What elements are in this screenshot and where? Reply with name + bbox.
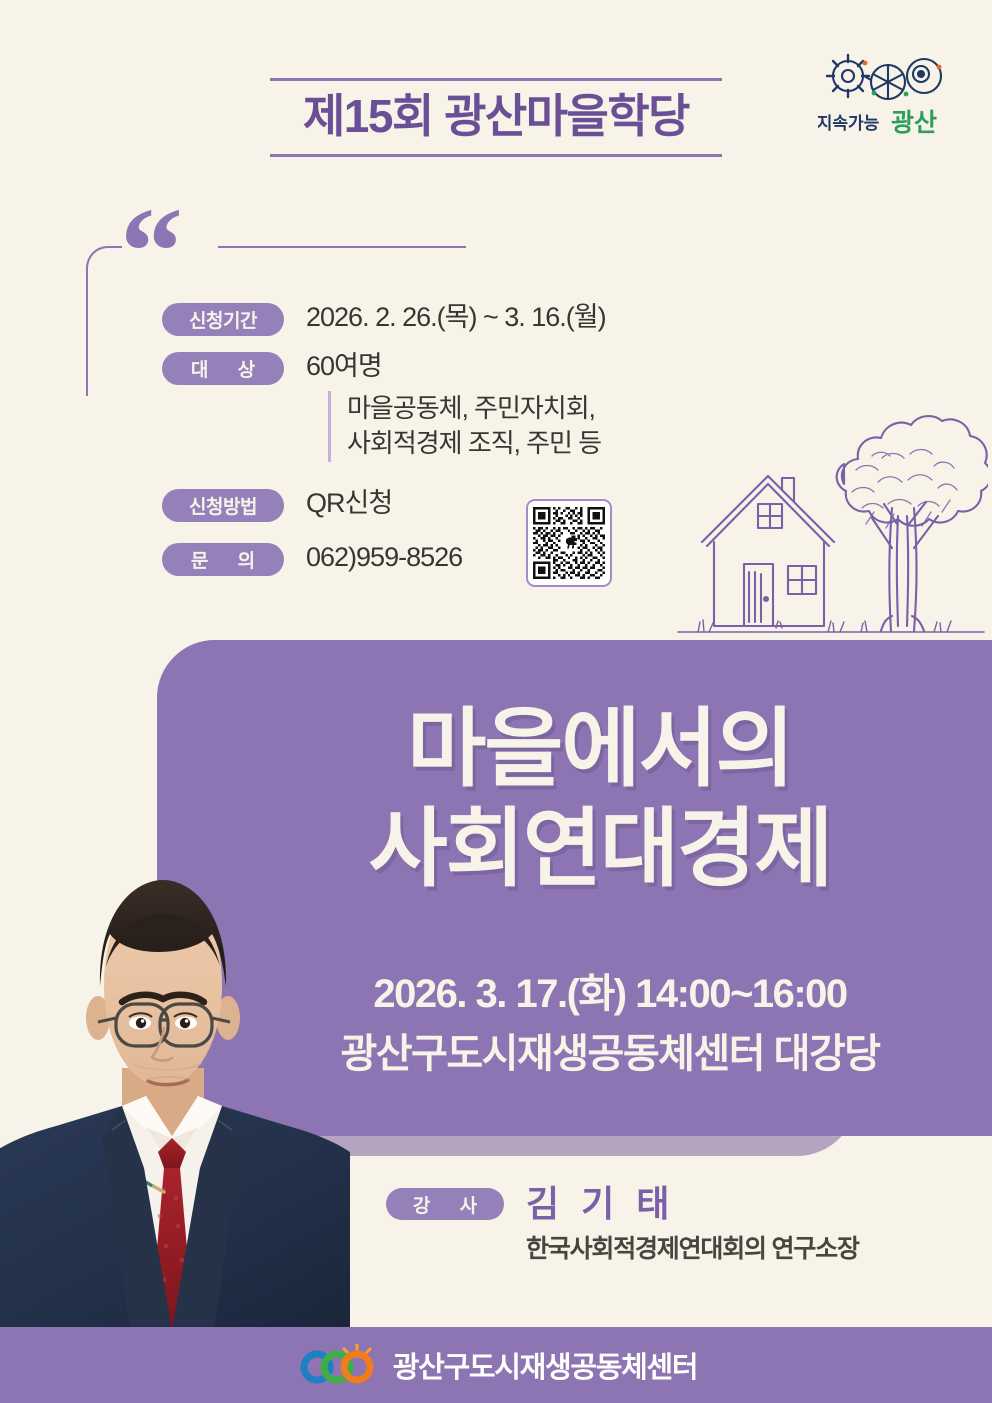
- badge-target: 대 상: [162, 352, 284, 385]
- value-application-method: QR신청: [306, 486, 392, 521]
- badge-application-period: 신청기간: [162, 303, 284, 336]
- page-title-block: 제15회 광산마을학당: [270, 78, 722, 157]
- info-row-contact: 문 의 062)959-8526: [162, 540, 722, 576]
- page-title: 제15회 광산마을학당: [270, 81, 722, 154]
- value-target: 60여명: [306, 349, 382, 384]
- speaker-name: 김 기 태: [526, 1184, 859, 1224]
- badge-application-method: 신청방법: [162, 489, 284, 522]
- badge-contact: 문 의: [162, 543, 284, 576]
- speaker-affiliation: 한국사회적경제연대회의 연구소장: [526, 1229, 859, 1265]
- bracket-decoration: [86, 246, 122, 396]
- value-contact: 062)959-8526: [306, 540, 462, 575]
- speaker-block: 강 사 김 기 태 한국사회적경제연대회의 연구소장: [386, 1184, 859, 1265]
- headline-line-2: 사회연대경제: [280, 800, 920, 900]
- info-row-period: 신청기간 2026. 2. 26.(목) ~ 3. 16.(월): [162, 300, 722, 336]
- poster-root: 지속가능 광산 제15회 광산마을학당 “ 신청기간 2026. 2. 26.(…: [0, 0, 992, 1403]
- info-row-method: 신청방법 QR신청: [162, 486, 722, 522]
- info-row-target: 대 상 60여명: [162, 349, 722, 385]
- main-headline: 마을에서의 사회연대경제: [280, 700, 920, 900]
- logo-tagline-text: 지속가능: [818, 114, 880, 133]
- qr-center-dino-icon: [563, 534, 578, 551]
- qr-code[interactable]: [526, 499, 612, 587]
- quote-mark-icon: “: [120, 206, 185, 299]
- footer-bar: 광산구도시재생공동체센터: [0, 1327, 992, 1403]
- target-sub-line-2: 사회적경제 조직, 주민 등: [347, 426, 722, 461]
- headline-line-1: 마을에서의: [280, 700, 920, 800]
- speaker-details: 김 기 태 한국사회적경제연대회의 연구소장: [526, 1184, 859, 1265]
- logo-name-text: 광산: [891, 109, 937, 137]
- title-rule-bottom: [270, 154, 722, 157]
- badge-speaker: 강 사: [386, 1188, 504, 1220]
- house-and-tree-illustration: [676, 396, 988, 642]
- center-logo-icon: [295, 1343, 383, 1387]
- event-datetime: 2026. 3. 17.(화) 14:00~16:00: [280, 965, 940, 1024]
- quote-rule: [218, 246, 466, 248]
- footer-org-name: 광산구도시재생공동체센터: [393, 1344, 698, 1386]
- value-application-period: 2026. 2. 26.(목) ~ 3. 16.(월): [306, 300, 606, 335]
- target-sub-line-1: 마을공동체, 주민자치회,: [347, 391, 722, 426]
- target-sub-list: 마을공동체, 주민자치회, 사회적경제 조직, 주민 등: [328, 391, 722, 462]
- gwangsan-sustainable-logo: 지속가능 광산: [818, 36, 954, 140]
- info-list: 신청기간 2026. 2. 26.(목) ~ 3. 16.(월) 대 상 60여…: [162, 300, 722, 589]
- event-venue: 광산구도시재생공동체센터 대강당: [280, 1025, 940, 1084]
- speaker-portrait-photo: [0, 868, 350, 1330]
